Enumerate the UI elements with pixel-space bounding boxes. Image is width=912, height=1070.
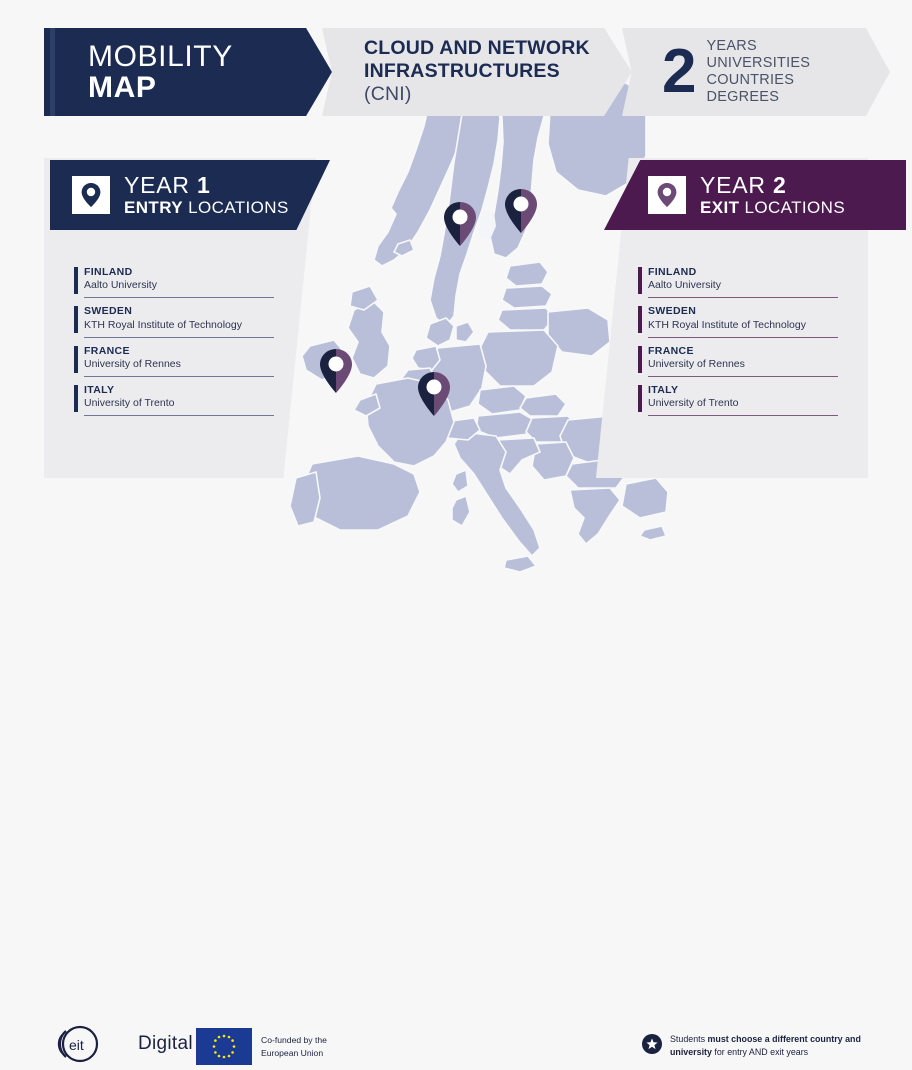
item-divider <box>648 415 838 416</box>
university-label: KTH Royal Institute of Technology <box>84 319 274 333</box>
year1-subtitle: ENTRY LOCATIONS <box>124 198 289 217</box>
svg-text:eit: eit <box>69 1037 84 1053</box>
item-divider <box>84 337 274 338</box>
item-accent-bar <box>74 306 78 333</box>
item-accent-bar <box>638 267 642 294</box>
item-divider <box>648 376 838 377</box>
item-accent-bar <box>74 267 78 294</box>
country-label: FRANCE <box>84 345 274 358</box>
year2-title: YEAR 2 <box>700 173 845 197</box>
eu-flag-icon <box>196 1028 252 1065</box>
eu-funding-line1: Co-funded by the <box>261 1034 327 1046</box>
university-label: Aalto University <box>84 279 274 293</box>
item-accent-bar <box>74 346 78 373</box>
year2-subtitle-bold: EXIT <box>700 198 739 217</box>
list-item: FRANCE University of Rennes <box>74 345 274 377</box>
country-label: ITALY <box>648 384 838 397</box>
stat-item-degrees: DEGREES <box>706 89 810 106</box>
year1-title-prefix: YEAR <box>124 172 197 198</box>
country-label: ITALY <box>84 384 274 397</box>
stats-chevron: 2 YEARS UNIVERSITIES COUNTRIES DEGREES <box>622 28 890 116</box>
year2-banner: YEAR 2 EXIT LOCATIONS <box>604 160 906 230</box>
page-title-line1: MOBILITY <box>88 41 233 72</box>
map-pin-icon <box>648 176 686 214</box>
year2-location-list: FINLAND Aalto University SWEDEN KTH Roya… <box>638 266 838 423</box>
list-item: SWEDEN KTH Royal Institute of Technology <box>638 305 838 337</box>
stat-item-countries: COUNTRIES <box>706 72 810 89</box>
year2-banner-text: YEAR 2 EXIT LOCATIONS <box>700 173 845 216</box>
title-accent-stripe <box>50 28 55 116</box>
item-divider <box>648 297 838 298</box>
item-accent-bar <box>638 346 642 373</box>
footnote-pre: Students <box>670 1034 708 1044</box>
item-divider <box>84 415 274 416</box>
country-label: FINLAND <box>84 266 274 279</box>
eu-funding-block: Co-funded by the European Union <box>196 1028 327 1065</box>
star-glyph <box>646 1038 658 1050</box>
star-badge-icon <box>642 1034 662 1054</box>
item-divider <box>648 337 838 338</box>
list-item: FINLAND Aalto University <box>74 266 274 298</box>
footnote-post: for entry AND exit years <box>712 1047 808 1057</box>
item-divider <box>84 376 274 377</box>
program-line1: CLOUD AND NETWORK <box>364 37 590 60</box>
eu-funding-line2: European Union <box>261 1047 327 1059</box>
map-pin-glyph <box>80 182 102 208</box>
year1-title: YEAR 1 <box>124 173 289 197</box>
eit-digital-logo: eit Digital <box>52 1024 193 1064</box>
country-label: FINLAND <box>648 266 838 279</box>
stat-item-universities: UNIVERSITIES <box>706 55 810 72</box>
year2-title-value: 2 <box>773 172 787 198</box>
eu-stars-glyph <box>196 1028 252 1065</box>
footnote-text: Students must choose a different country… <box>670 1033 870 1059</box>
header-band: MOBILITY MAP CLOUD AND NETWORK INFRASTRU… <box>44 28 868 116</box>
program-name-chevron: CLOUD AND NETWORK INFRASTRUCTURES (CNI) <box>322 28 632 116</box>
university-label: University of Trento <box>648 397 838 411</box>
list-item: FINLAND Aalto University <box>638 266 838 298</box>
university-label: University of Rennes <box>648 358 838 372</box>
list-item: FRANCE University of Rennes <box>638 345 838 377</box>
item-accent-bar <box>638 306 642 333</box>
header-title-chevron: MOBILITY MAP <box>44 28 332 116</box>
list-item: ITALY University of Trento <box>74 384 274 416</box>
year1-banner-text: YEAR 1 ENTRY LOCATIONS <box>124 173 289 216</box>
year2-subtitle-rest: LOCATIONS <box>739 198 845 217</box>
university-label: University of Trento <box>84 397 274 411</box>
map-pin-icon <box>72 176 110 214</box>
year1-subtitle-rest: LOCATIONS <box>183 198 289 217</box>
eit-digital-wordmark: Digital <box>138 1033 193 1055</box>
program-line2: INFRASTRUCTURES <box>364 60 590 83</box>
country-label: SWEDEN <box>84 305 274 318</box>
list-item: SWEDEN KTH Royal Institute of Technology <box>74 305 274 337</box>
infographic-root: MOBILITY MAP CLOUD AND NETWORK INFRASTRU… <box>0 0 912 592</box>
year1-location-list: FINLAND Aalto University SWEDEN KTH Roya… <box>74 266 274 423</box>
year2-title-prefix: YEAR <box>700 172 773 198</box>
page-title-line2: MAP <box>88 72 233 103</box>
university-label: KTH Royal Institute of Technology <box>648 319 838 333</box>
country-label: SWEDEN <box>648 305 838 318</box>
year1-banner: YEAR 1 ENTRY LOCATIONS <box>50 160 330 230</box>
item-accent-bar <box>638 385 642 412</box>
year2-subtitle: EXIT LOCATIONS <box>700 198 845 217</box>
europe-map <box>248 60 668 580</box>
item-divider <box>84 297 274 298</box>
footnote: Students must choose a different country… <box>642 1033 870 1059</box>
list-item: ITALY University of Trento <box>638 384 838 416</box>
year1-title-value: 1 <box>197 172 211 198</box>
program-abbreviation: (CNI) <box>364 83 590 106</box>
eu-funding-text: Co-funded by the European Union <box>261 1034 327 1058</box>
map-pin-glyph <box>656 182 678 208</box>
footer: eit Digital <box>0 505 912 592</box>
university-label: Aalto University <box>648 279 838 293</box>
stat-list: YEARS UNIVERSITIES COUNTRIES DEGREES <box>706 38 810 106</box>
country-label: FRANCE <box>648 345 838 358</box>
year1-subtitle-bold: ENTRY <box>124 198 183 217</box>
university-label: University of Rennes <box>84 358 274 372</box>
stat-number: 2 <box>662 45 696 98</box>
eit-logo-icon: eit <box>52 1024 130 1064</box>
stat-item-years: YEARS <box>706 38 810 55</box>
item-accent-bar <box>74 385 78 412</box>
